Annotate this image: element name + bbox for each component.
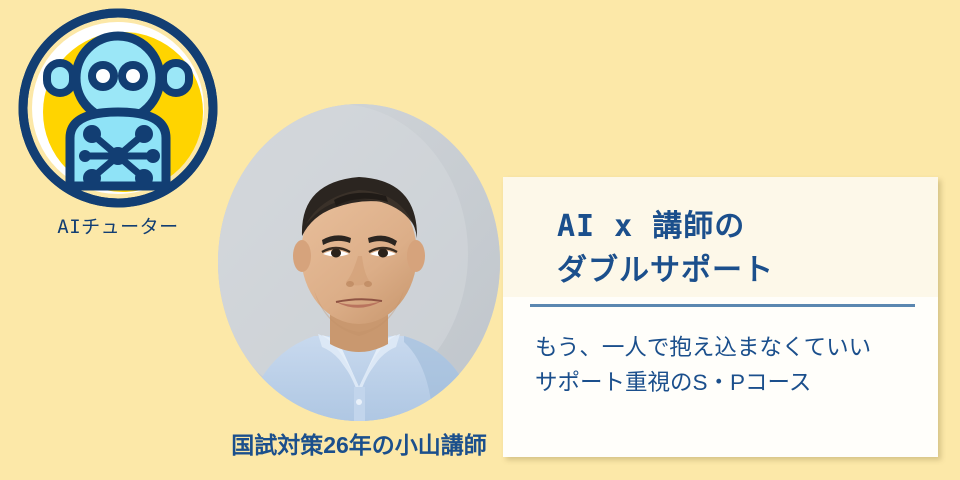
panel-body-line-2: サポート重視のS・Pコース bbox=[503, 366, 938, 401]
info-panel: AI x 講師の ダブルサポート もう、一人で抱え込まなくていい サポート重視の… bbox=[503, 177, 938, 457]
panel-heading-area: AI x 講師の ダブルサポート bbox=[503, 177, 938, 297]
panel-heading-line-2: ダブルサポート bbox=[503, 249, 938, 293]
ai-tutor-badge-group: AIチューター bbox=[18, 8, 218, 253]
panel-body-area: もう、一人で抱え込まなくていい サポート重視のS・Pコース bbox=[503, 307, 938, 457]
panel-heading-line-1: AI x 講師の bbox=[503, 205, 938, 249]
panel-divider-area bbox=[503, 297, 938, 307]
ai-robot-badge-icon bbox=[18, 8, 218, 208]
panel-body-line-1: もう、一人で抱え込まなくていい bbox=[503, 331, 938, 366]
instructor-portrait-photo bbox=[218, 104, 500, 421]
promo-banner: AIチューター bbox=[0, 0, 960, 480]
ai-tutor-label: AIチューター bbox=[18, 212, 218, 239]
instructor-group: 国試対策26年の小山講師 bbox=[218, 104, 500, 464]
instructor-caption: 国試対策26年の小山講師 bbox=[178, 426, 540, 460]
